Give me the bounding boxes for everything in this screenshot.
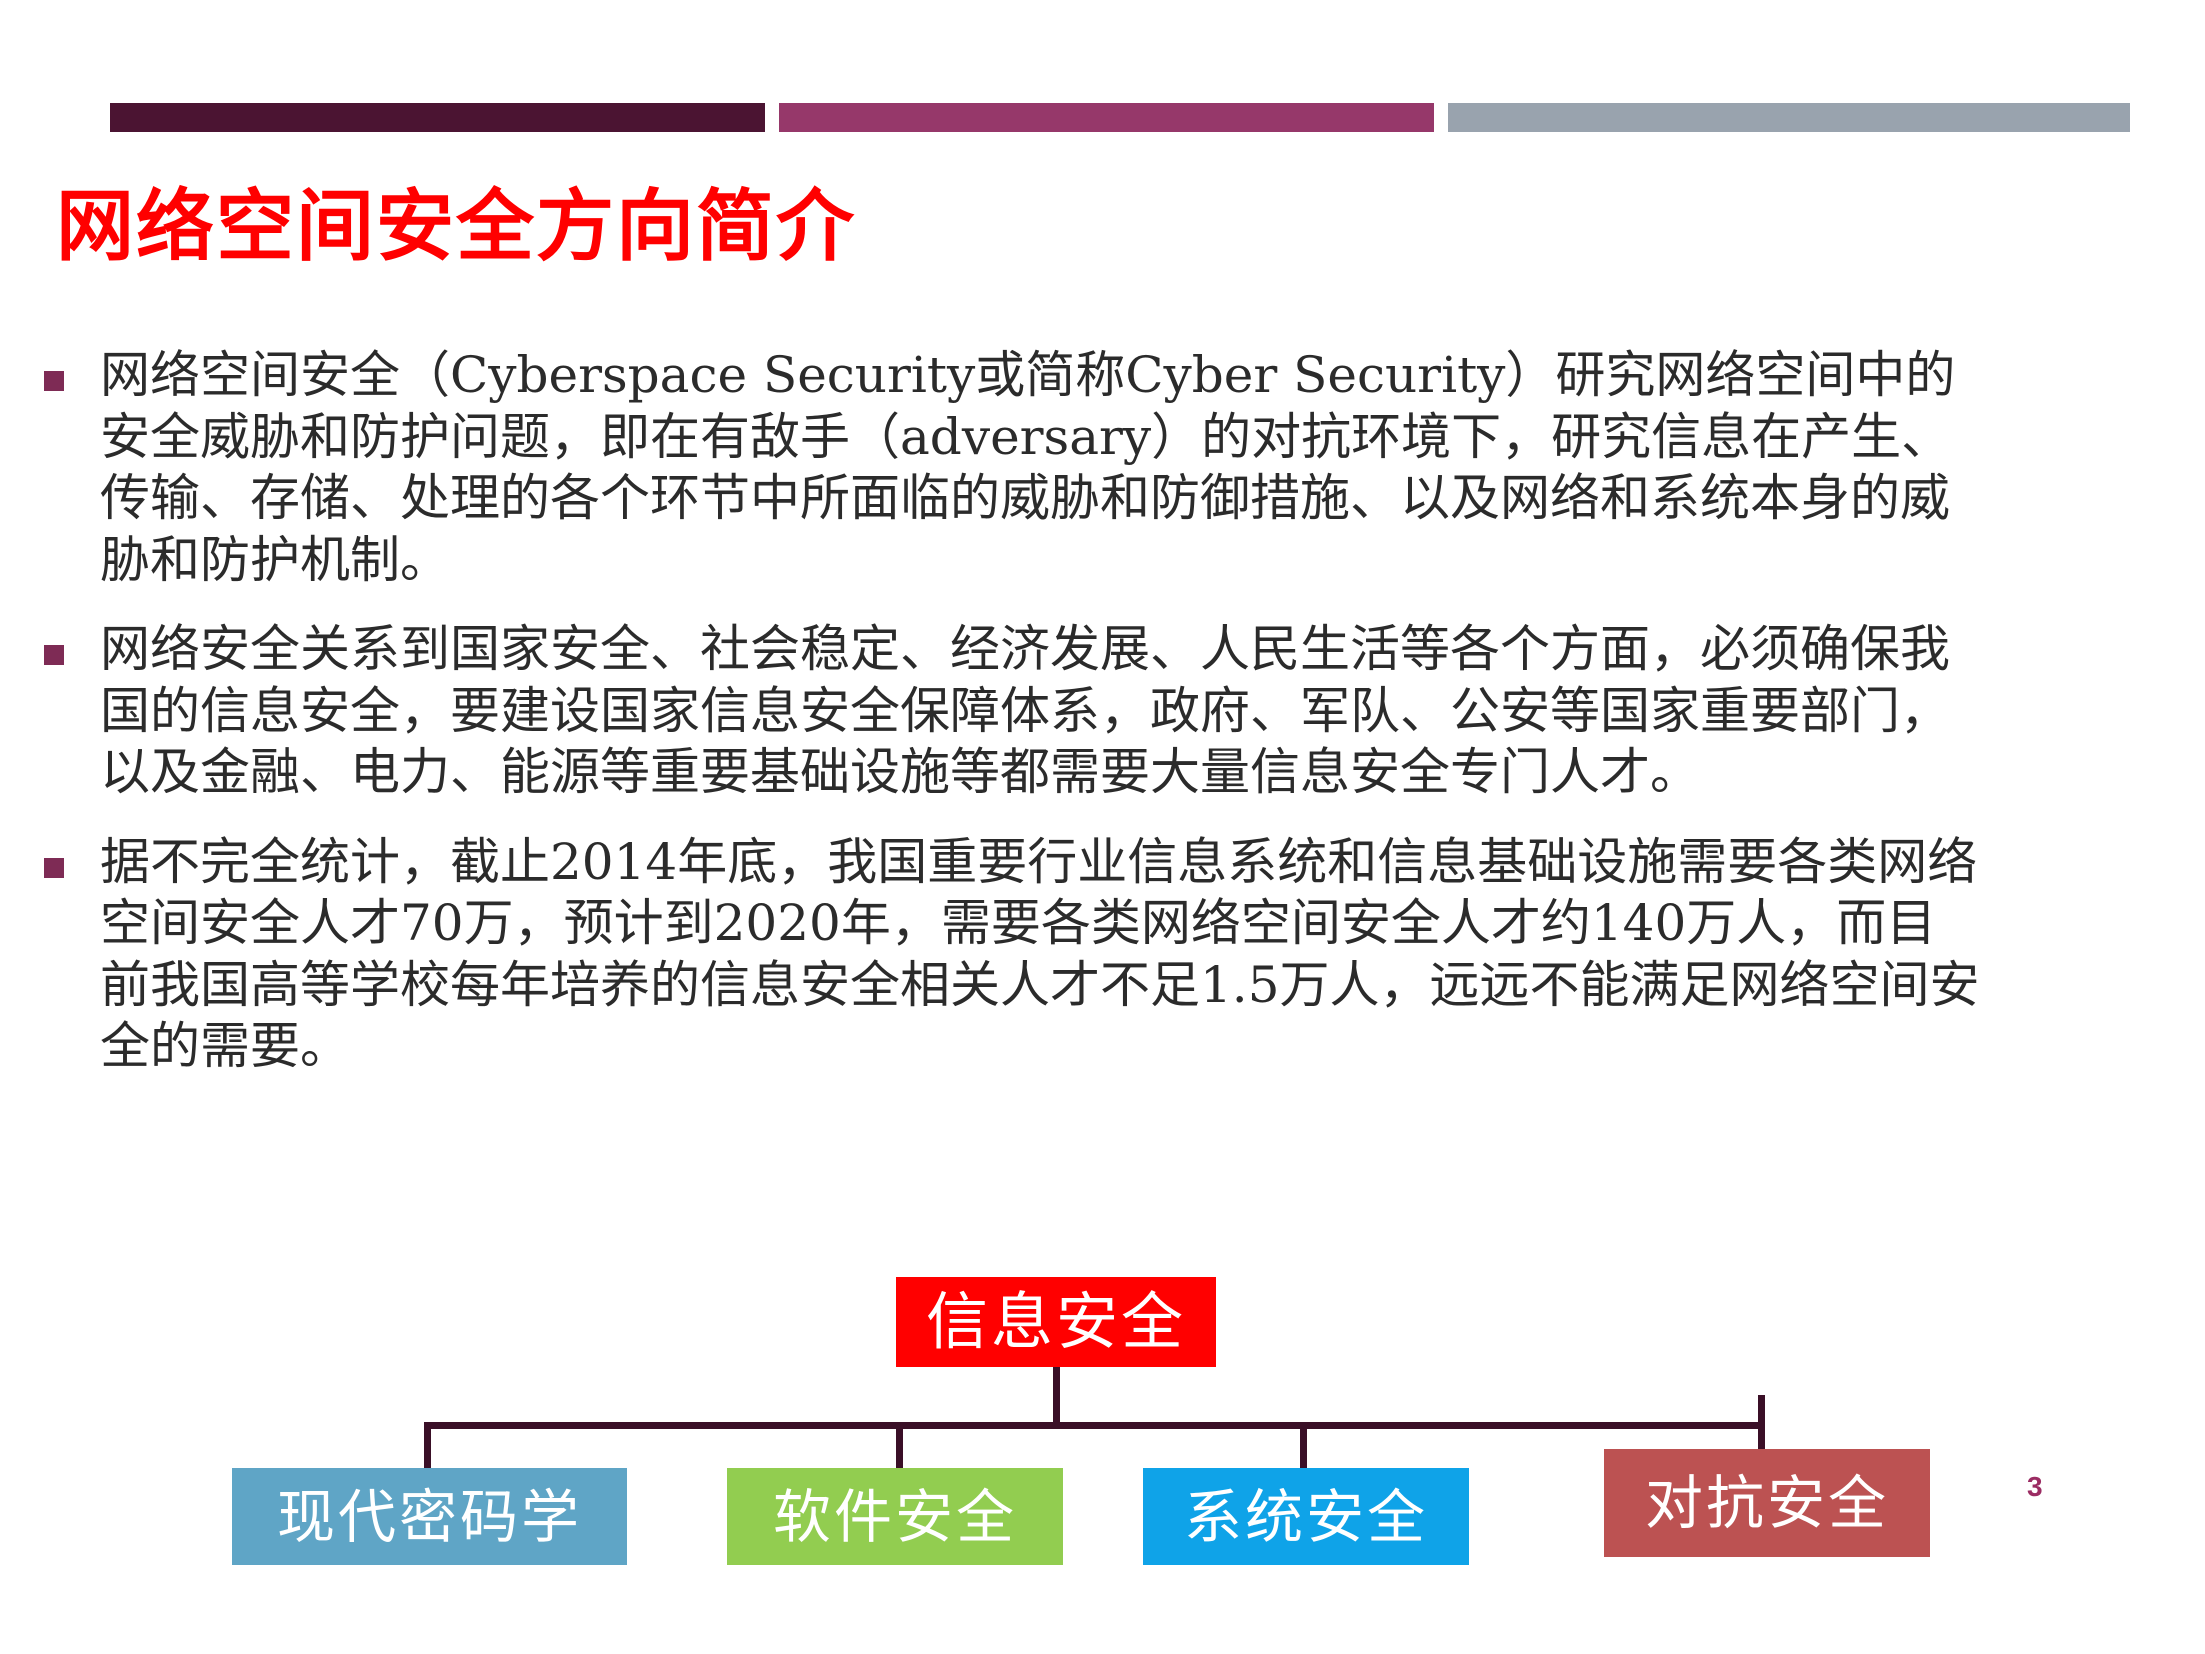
- decorative-top-bar: [110, 103, 2130, 132]
- topbar-segment-slate-gray: [1448, 103, 2130, 132]
- information-security-hierarchy-diagram: 信息安全 现代密码学 软件安全 系统安全 对抗安全: [0, 1275, 2205, 1654]
- bullet-text: 网络空间安全（Cyberspace Security或简称Cyber Secur…: [100, 345, 1982, 591]
- list-item: 网络安全关系到国家安全、社会稳定、经济发展、人民生活等各个方面，必须确保我国的信…: [22, 619, 1982, 804]
- connector-drop-3: [1300, 1422, 1307, 1470]
- list-item: 据不完全统计，截止2014年底，我国重要行业信息系统和信息基础设施需要各类网络空…: [22, 832, 1982, 1078]
- connector-drop-1: [424, 1422, 431, 1470]
- diagram-node-root: 信息安全: [896, 1277, 1216, 1367]
- diagram-node-modern-cryptography: 现代密码学: [232, 1468, 627, 1565]
- bullet-list: 网络空间安全（Cyberspace Security或简称Cyber Secur…: [22, 345, 1982, 1106]
- connector-drop-2: [896, 1422, 903, 1470]
- diagram-node-adversarial-security: 对抗安全: [1604, 1449, 1930, 1557]
- bullet-square-icon: [44, 858, 64, 878]
- list-item: 网络空间安全（Cyberspace Security或简称Cyber Secur…: [22, 345, 1982, 591]
- slide: 网络空间安全方向简介 网络空间安全（Cyberspace Security或简称…: [0, 0, 2205, 1654]
- bullet-text: 网络安全关系到国家安全、社会稳定、经济发展、人民生活等各个方面，必须确保我国的信…: [100, 619, 1982, 804]
- topbar-gap-1: [765, 103, 779, 132]
- connector-horizontal-bar: [424, 1422, 1765, 1429]
- page-number: 3: [2027, 1471, 2043, 1503]
- topbar-gap-2: [1434, 103, 1448, 132]
- connector-drop-4: [1758, 1395, 1765, 1451]
- bullet-square-icon: [44, 371, 64, 391]
- bullet-text: 据不完全统计，截止2014年底，我国重要行业信息系统和信息基础设施需要各类网络空…: [100, 832, 1982, 1078]
- page-title: 网络空间安全方向简介: [56, 186, 856, 268]
- diagram-node-system-security: 系统安全: [1143, 1468, 1469, 1565]
- diagram-node-software-security: 软件安全: [727, 1468, 1063, 1565]
- connector-root-stem: [1053, 1367, 1060, 1425]
- topbar-segment-dark-plum: [110, 103, 765, 132]
- bullet-square-icon: [44, 645, 64, 665]
- topbar-segment-magenta: [779, 103, 1434, 132]
